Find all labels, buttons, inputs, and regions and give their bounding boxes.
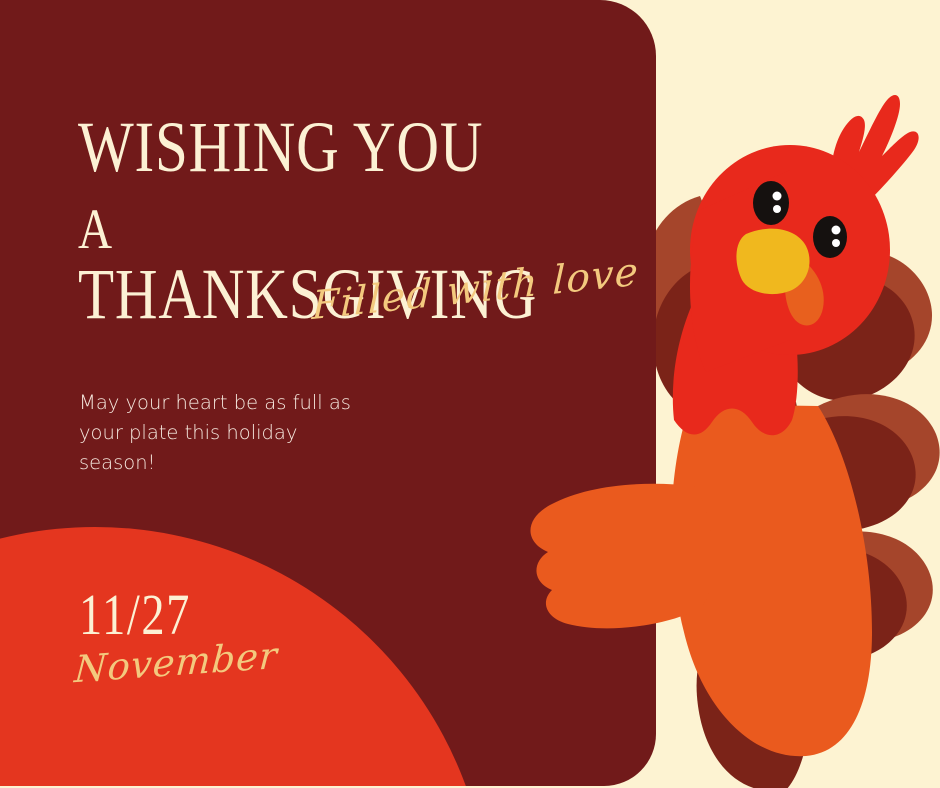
thanksgiving-greeting-card: Wishing you a Thanksgiving Filled with l… [0, 0, 940, 788]
body-message: May your heart be as full as your plate … [79, 388, 379, 479]
headline-line-1: Wishing you [78, 112, 504, 183]
turkey-beak [736, 229, 809, 294]
headline-article: a [78, 198, 110, 261]
date-number: 11/27 [79, 586, 191, 644]
